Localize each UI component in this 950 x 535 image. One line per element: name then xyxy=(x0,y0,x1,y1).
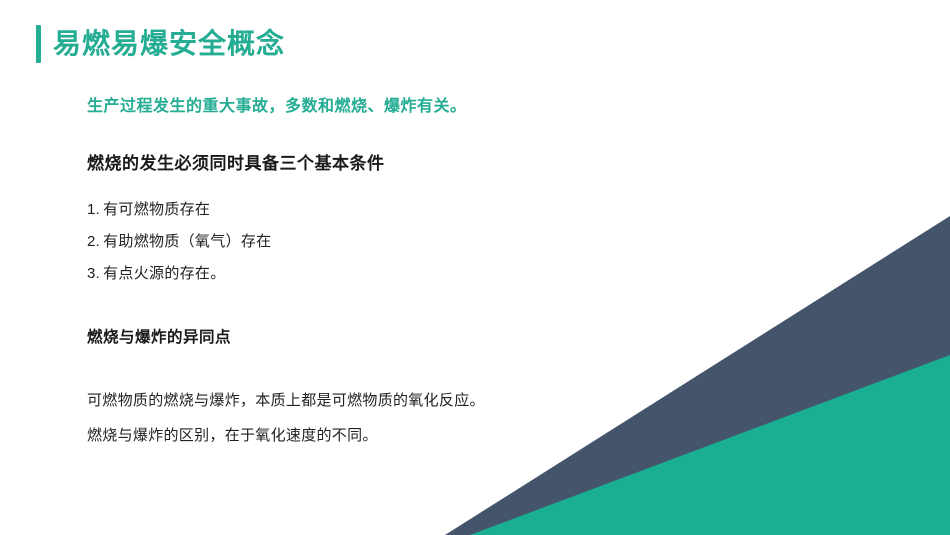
slide: 易燃易爆安全概念 生产过程发生的重大事故，多数和燃烧、爆炸有关。 燃烧的发生必须… xyxy=(0,0,950,535)
list-item-label: 有助燃物质（氧气）存在 xyxy=(103,233,271,250)
list-item-label: 有点火源的存在。 xyxy=(103,265,225,282)
title-accent-bar xyxy=(36,25,41,63)
list-item: 2.有助燃物质（氧气）存在 xyxy=(87,234,787,249)
section-heading-comparison: 燃烧与爆炸的异同点 xyxy=(87,327,787,349)
subtitle-text: 生产过程发生的重大事故，多数和燃烧、爆炸有关。 xyxy=(87,96,787,118)
list-item-index: 3. xyxy=(87,265,100,282)
content-body: 生产过程发生的重大事故，多数和燃烧、爆炸有关。 燃烧的发生必须同时具备三个基本条… xyxy=(87,96,787,463)
section-heading-conditions: 燃烧的发生必须同时具备三个基本条件 xyxy=(87,152,787,176)
paragraph-block: 可燃物质的燃烧与爆炸，本质上都是可燃物质的氧化反应。 燃烧与爆炸的区别，在于氧化… xyxy=(87,393,787,443)
list-item: 1.有可燃物质存在 xyxy=(87,202,787,217)
list-item-index: 2. xyxy=(87,233,100,250)
paragraph-line: 燃烧与爆炸的区别，在于氧化速度的不同。 xyxy=(87,428,787,443)
title-text: 易燃易爆安全概念 xyxy=(53,30,285,58)
list-item: 3.有点火源的存在。 xyxy=(87,266,787,281)
page-title: 易燃易爆安全概念 xyxy=(36,24,285,64)
list-item-label: 有可燃物质存在 xyxy=(103,201,210,218)
paragraph-line: 可燃物质的燃烧与爆炸，本质上都是可燃物质的氧化反应。 xyxy=(87,393,787,408)
conditions-list: 1.有可燃物质存在 2.有助燃物质（氧气）存在 3.有点火源的存在。 xyxy=(87,202,787,281)
list-item-index: 1. xyxy=(87,201,100,218)
